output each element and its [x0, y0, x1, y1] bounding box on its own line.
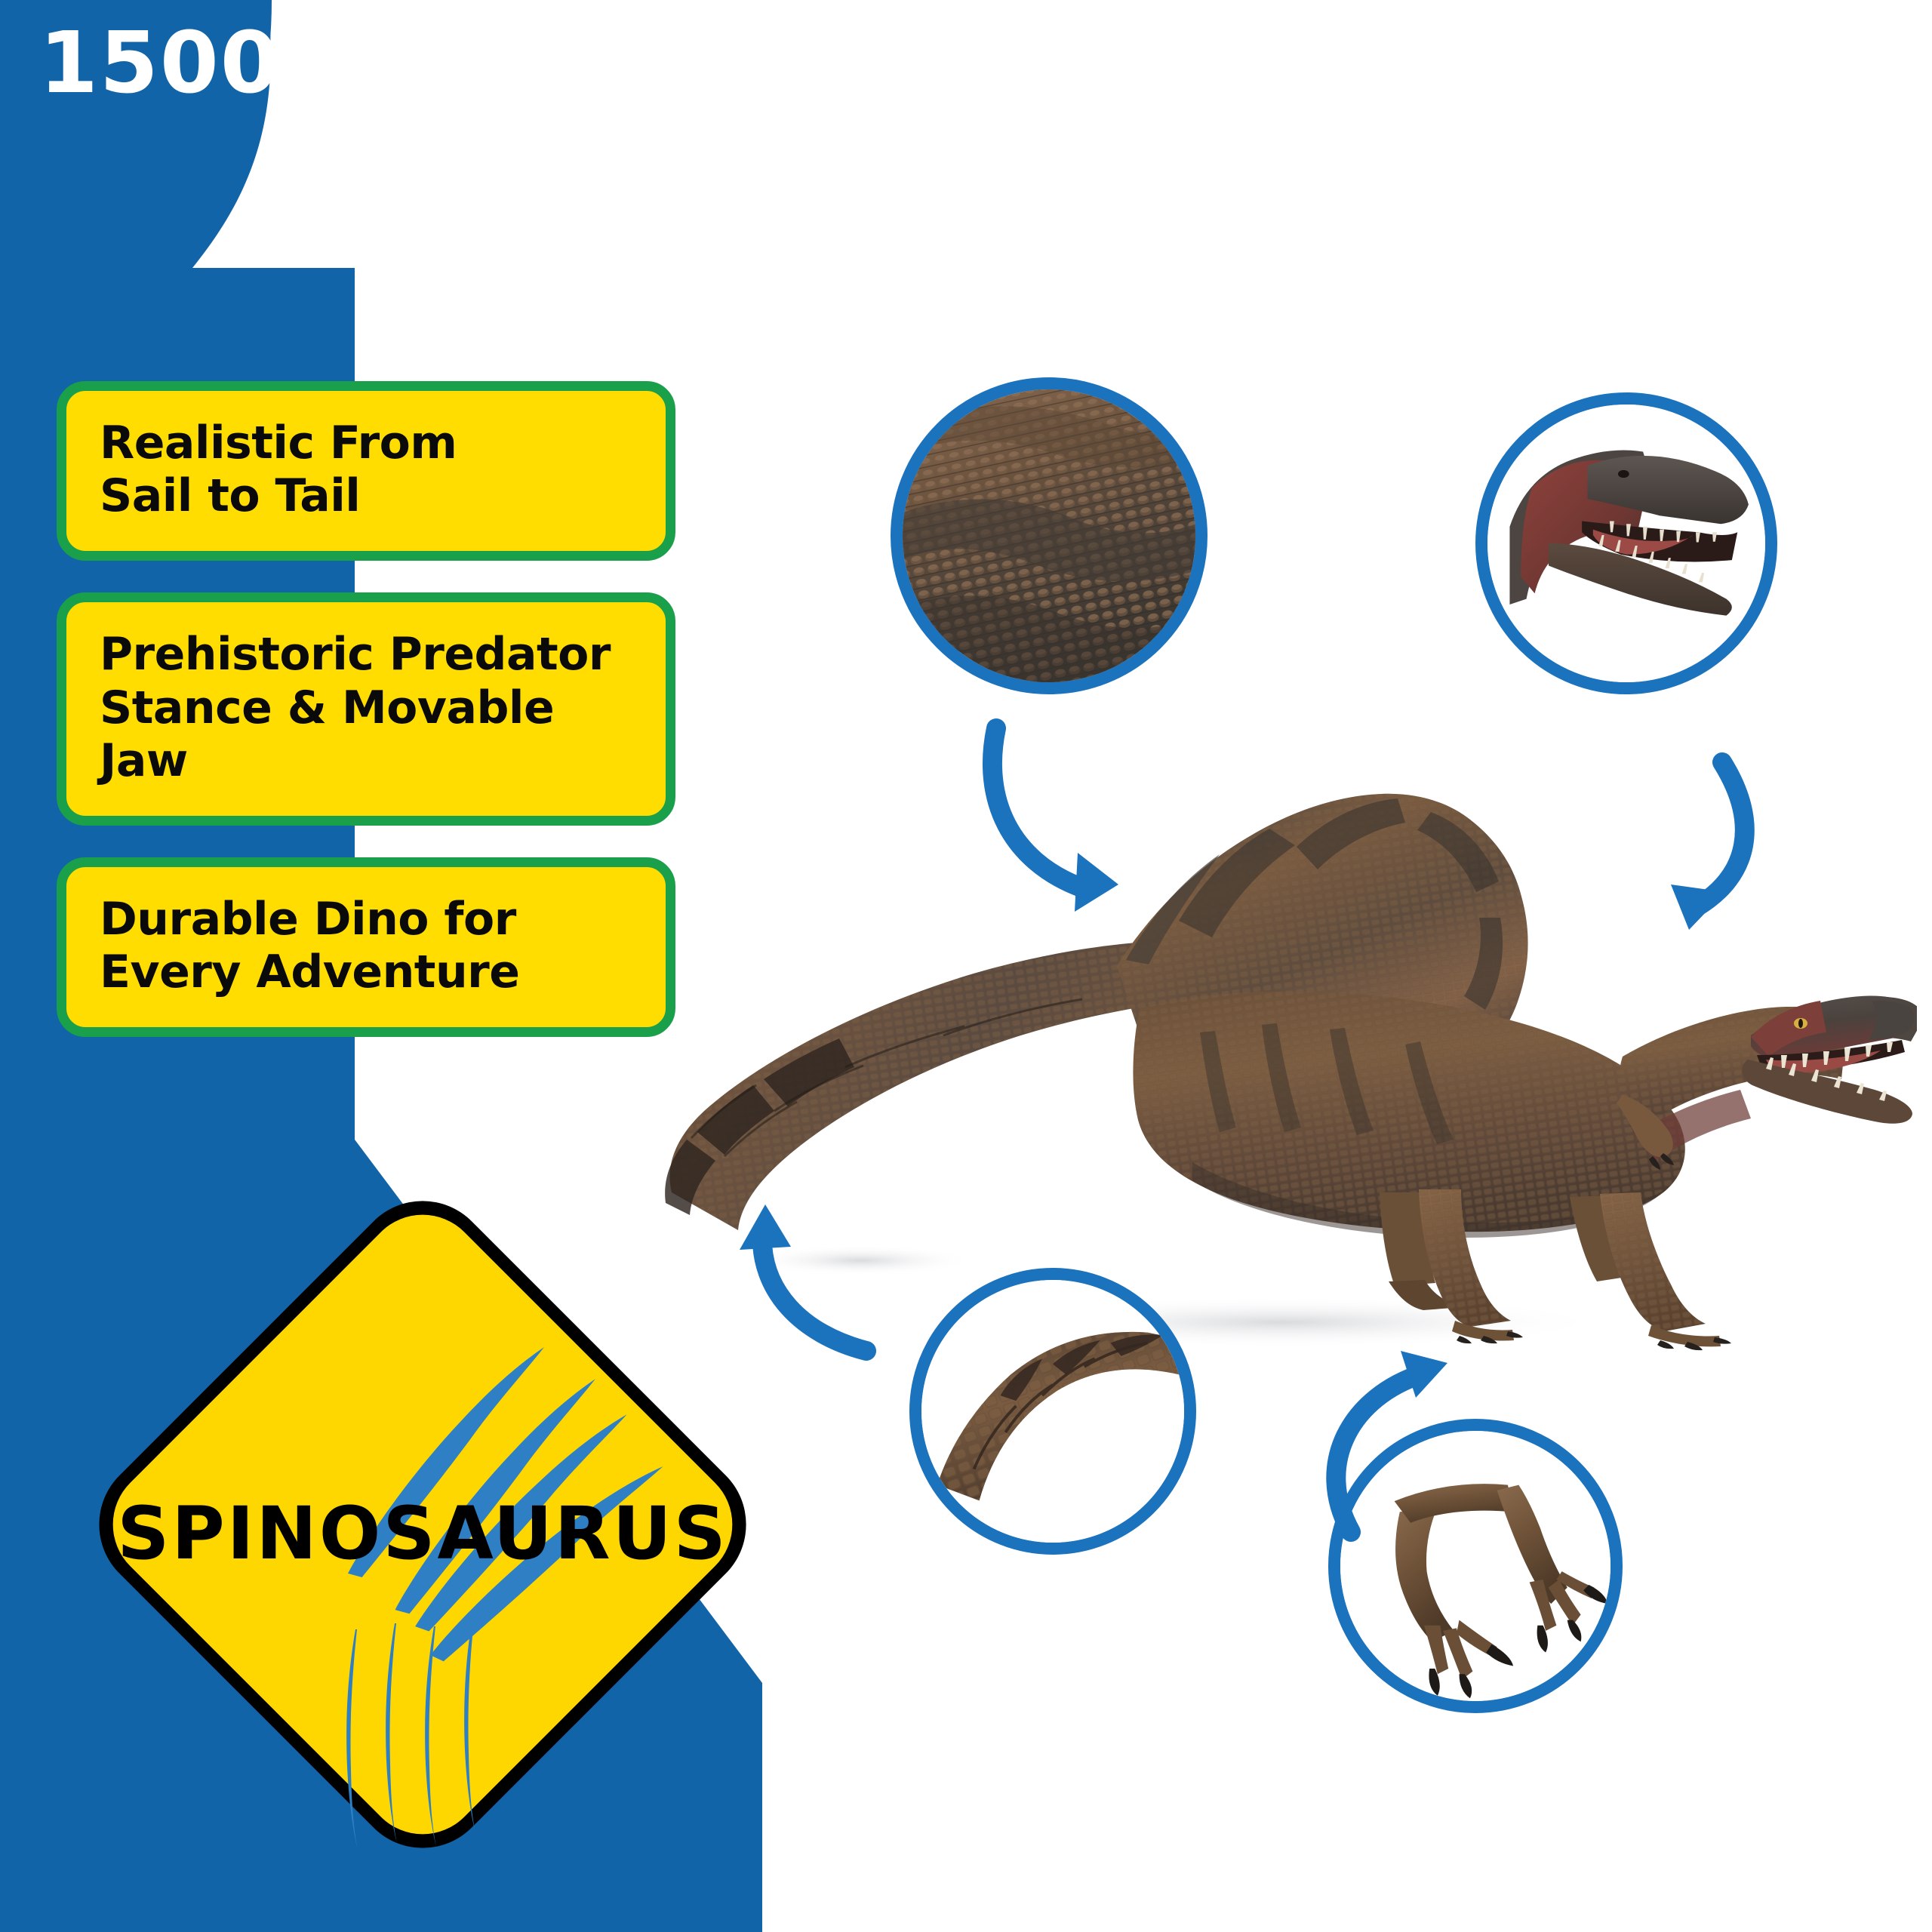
spinosaurus-illustration — [619, 740, 1917, 1358]
detail-circle-claws — [1328, 1419, 1623, 1713]
feature-callout-1: Realistic From Sail to Tail — [57, 381, 675, 561]
feature-label: Durable Dino for Every Adventure — [100, 893, 632, 998]
feature-callout-3: Durable Dino for Every Adventure — [57, 857, 675, 1037]
sign-shape — [72, 1174, 774, 1875]
feature-list: Realistic From Sail to Tail Prehistoric … — [57, 381, 675, 1069]
product-sku: 15009 — [39, 21, 341, 106]
skin-texture-image — [903, 389, 1195, 682]
feature-label: Prehistoric Predator Stance & Movable Ja… — [100, 628, 632, 787]
feature-callout-2: Prehistoric Predator Stance & Movable Ja… — [57, 592, 675, 826]
feature-label: Realistic From Sail to Tail — [100, 417, 632, 522]
detail-circle-head-jaw — [1475, 392, 1777, 694]
detail-circle-skin-texture — [891, 377, 1207, 694]
detail-circle-tail — [909, 1268, 1196, 1555]
infographic-canvas: 15009 Realistic From Sail to Tail Prehis… — [0, 0, 1932, 1932]
tail-detail-image — [921, 1280, 1184, 1543]
spinosaurus-figure — [619, 740, 1917, 1358]
spinosaurus-warning-sign: SPINOSAURUS — [72, 1174, 774, 1875]
claws-detail-image — [1340, 1431, 1611, 1701]
head-jaw-image — [1487, 405, 1765, 682]
